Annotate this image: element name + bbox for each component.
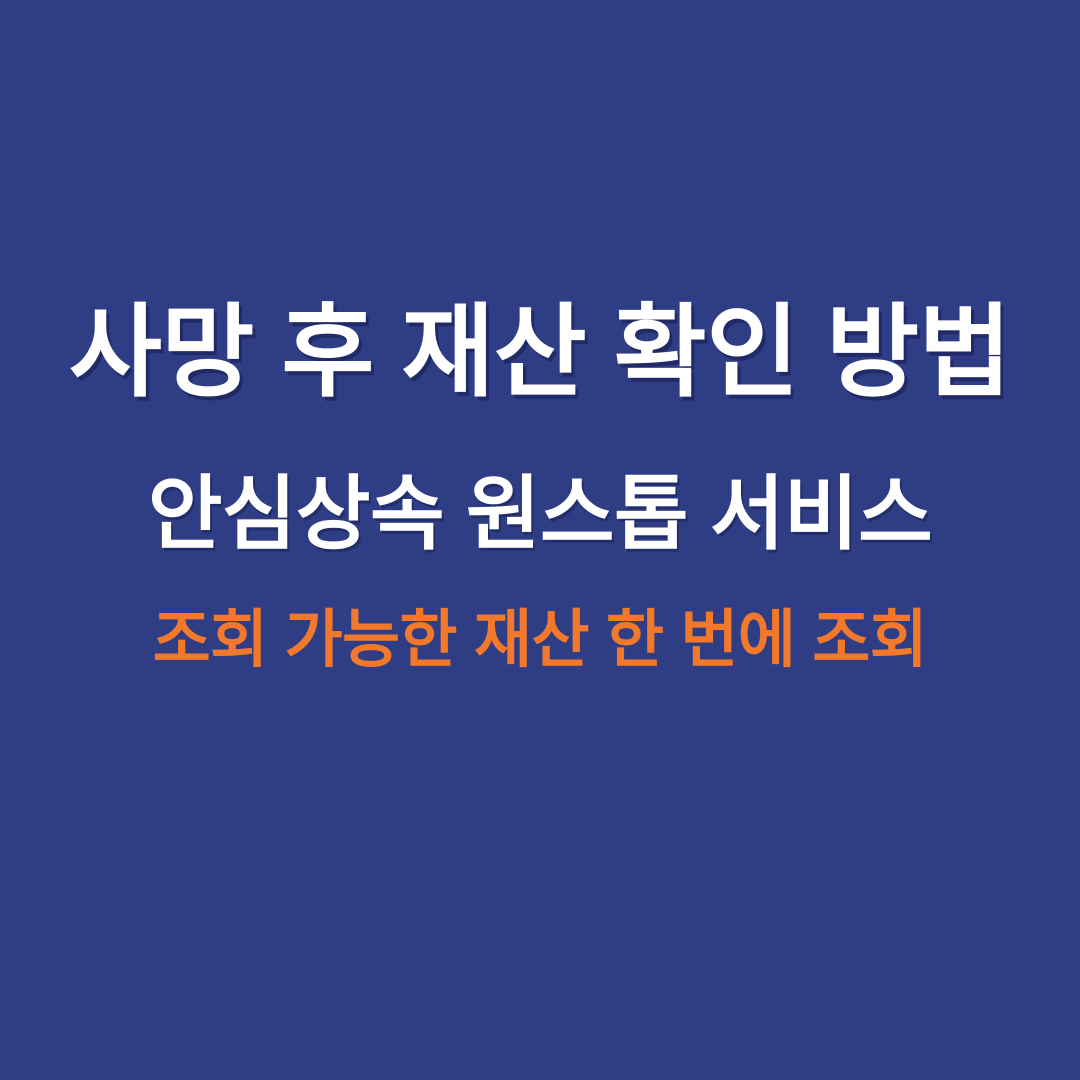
headline-title: 사망 후 재산 확인 방법 — [0, 300, 1080, 407]
tagline-highlight: 조회 가능한 재산 한 번에 조회 — [0, 607, 1080, 674]
text-block: 사망 후 재산 확인 방법 안심상속 원스톱 서비스 조회 가능한 재산 한 번… — [0, 300, 1080, 674]
top-spacer — [0, 0, 1080, 300]
poster-canvas: 사망 후 재산 확인 방법 안심상속 원스톱 서비스 조회 가능한 재산 한 번… — [0, 0, 1080, 1080]
subheadline-service-name: 안심상속 원스톱 서비스 — [0, 473, 1080, 559]
bottom-spacer — [0, 720, 1080, 1080]
